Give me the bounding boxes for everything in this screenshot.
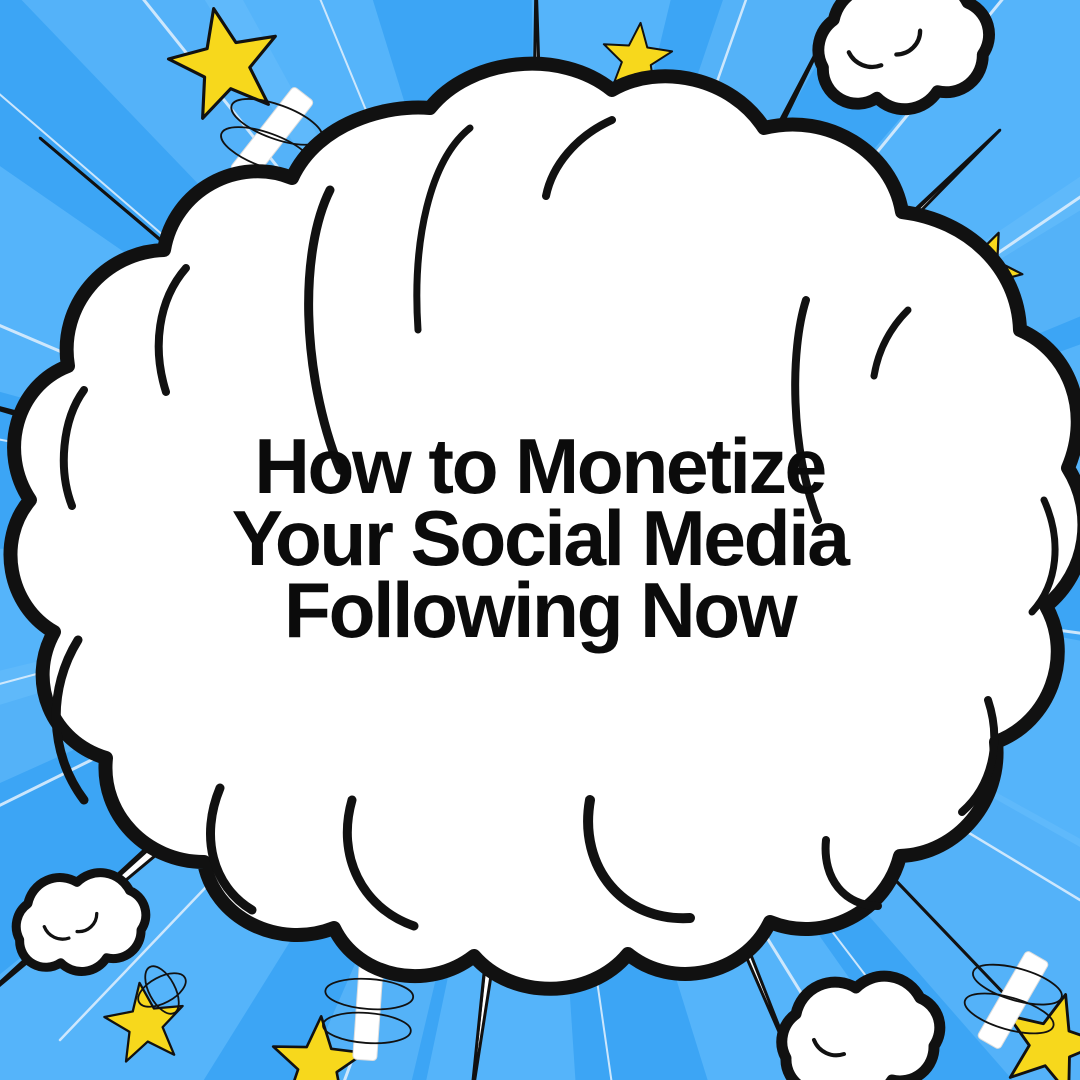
comic-poster: How to Monetize Your Social Media Follow… bbox=[0, 0, 1080, 1080]
cloud-speech-bubble-shape bbox=[10, 64, 1080, 989]
speech-bubble-layer bbox=[0, 0, 1080, 1080]
cloud-speech-bubble bbox=[10, 64, 1080, 989]
